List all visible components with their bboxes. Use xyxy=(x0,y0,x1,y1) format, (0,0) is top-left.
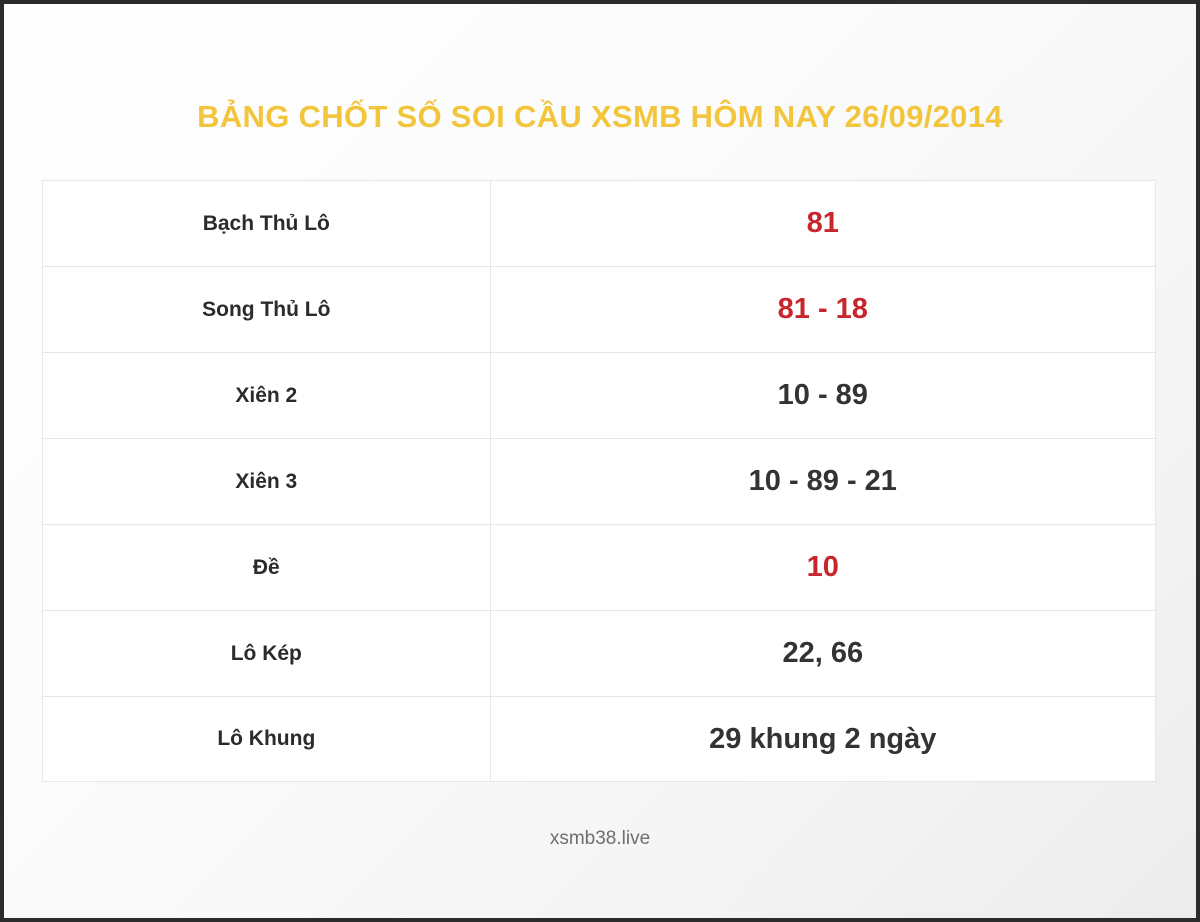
table-cell-value: 81 - 18 xyxy=(490,266,1156,352)
table-row: Đề 10 xyxy=(42,524,1156,610)
row-label: Bạch Thủ Lô xyxy=(203,212,330,235)
row-label: Đề xyxy=(253,556,280,579)
table-cell-label: Đề xyxy=(42,524,490,610)
table-cell-value: 10 - 89 xyxy=(490,352,1156,438)
site-watermark: xsmb38.live xyxy=(4,826,1196,852)
row-value: 29 khung 2 ngày xyxy=(709,723,936,755)
table-cell-label: Xiên 3 xyxy=(42,438,490,524)
row-label: Xiên 2 xyxy=(235,384,297,407)
prediction-table: Bạch Thủ Lô 81 Song Thủ Lô 81 - 18 Xiên … xyxy=(42,180,1156,782)
table-cell-label: Song Thủ Lô xyxy=(42,266,490,352)
page-frame: BẢNG CHỐT SỐ SOI CẦU XSMB HÔM NAY 26/09/… xyxy=(4,4,1196,918)
table-row: Lô Khung 29 khung 2 ngày xyxy=(42,696,1156,782)
table-row: Lô Kép 22, 66 xyxy=(42,610,1156,696)
row-label: Lô Khung xyxy=(217,727,315,750)
row-value: 81 - 18 xyxy=(778,293,868,325)
table-row: Bạch Thủ Lô 81 xyxy=(42,180,1156,266)
row-value: 10 - 89 xyxy=(778,379,868,411)
table-cell-value: 22, 66 xyxy=(490,610,1156,696)
page-title: BẢNG CHỐT SỐ SOI CẦU XSMB HÔM NAY 26/09/… xyxy=(4,97,1196,137)
row-value: 22, 66 xyxy=(782,637,863,669)
row-value: 10 xyxy=(807,551,839,583)
table-cell-label: Bạch Thủ Lô xyxy=(42,180,490,266)
table-cell-value: 10 xyxy=(490,524,1156,610)
table-row: Xiên 3 10 - 89 - 21 xyxy=(42,438,1156,524)
table-cell-value: 81 xyxy=(490,180,1156,266)
row-value: 10 - 89 - 21 xyxy=(749,465,897,497)
prediction-table-body: Bạch Thủ Lô 81 Song Thủ Lô 81 - 18 Xiên … xyxy=(42,180,1156,782)
table-cell-label: Xiên 2 xyxy=(42,352,490,438)
table-cell-label: Lô Khung xyxy=(42,696,490,782)
table-row: Song Thủ Lô 81 - 18 xyxy=(42,266,1156,352)
row-label: Lô Kép xyxy=(231,642,302,665)
row-value: 81 xyxy=(807,207,839,239)
table-cell-value: 10 - 89 - 21 xyxy=(490,438,1156,524)
row-label: Song Thủ Lô xyxy=(202,298,330,321)
table-cell-label: Lô Kép xyxy=(42,610,490,696)
row-label: Xiên 3 xyxy=(235,470,297,493)
table-cell-value: 29 khung 2 ngày xyxy=(490,696,1156,782)
table-row: Xiên 2 10 - 89 xyxy=(42,352,1156,438)
